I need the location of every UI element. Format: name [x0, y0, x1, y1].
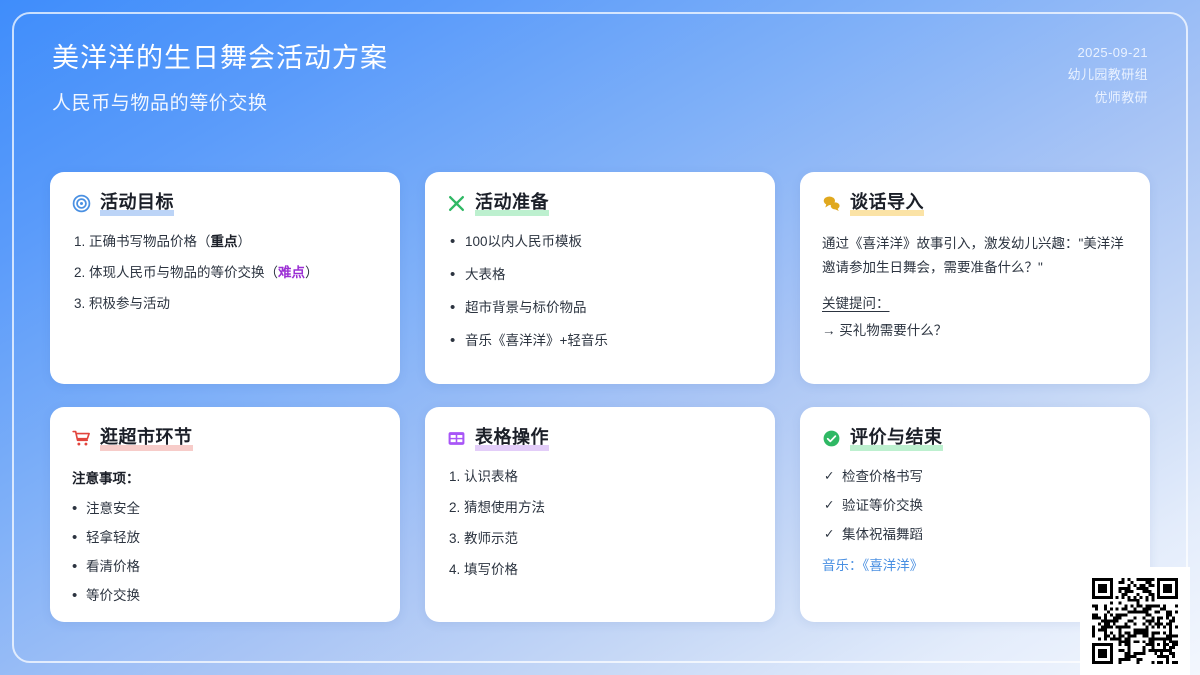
list-item: 超市背景与标价物品 [447, 298, 753, 318]
list-index: 3. [449, 531, 460, 546]
card-table-operation[interactable]: 表格操作 1. 认识表格 2. 猜想使用方法 3. 教师示范 4. 填写价格 [425, 407, 775, 622]
list-index: 3. [74, 296, 85, 311]
card-grid: 活动目标 1. 正确书写物品价格（重点） 2. 体现人民币与物品的等价交换（难点… [50, 172, 1150, 622]
list-item: 1. 认识表格 [447, 467, 753, 487]
list-item: 3. 积极参与活动 [72, 294, 378, 314]
list-item: 等价交换 [72, 586, 378, 606]
card-title: 活动准备 [475, 192, 549, 216]
card-header: 谈话导入 [822, 192, 1128, 216]
list-text: 积极参与活动 [89, 296, 170, 311]
qr-code-image [1092, 578, 1178, 664]
qr-code[interactable] [1080, 567, 1190, 675]
list-item: 注意安全 [72, 499, 378, 519]
list-item: 2. 猜想使用方法 [447, 498, 753, 518]
list-item: 2. 体现人民币与物品的等价交换（难点） [72, 263, 378, 283]
table-steps-list: 1. 认识表格 2. 猜想使用方法 3. 教师示范 4. 填写价格 [447, 467, 753, 581]
introduction-paragraph: 通过《喜洋洋》故事引入，激发幼儿兴趣："美洋洋邀请参加生日舞会，需要准备什么？" [822, 232, 1128, 280]
card-title: 表格操作 [475, 427, 549, 451]
list-item: 3. 教师示范 [447, 529, 753, 549]
evaluation-list: 检查价格书写 验证等价交换 集体祝福舞蹈 [822, 467, 1128, 546]
card-header: 逛超市环节 [72, 427, 378, 451]
list-text: 认识表格 [464, 469, 518, 484]
card-header: 表格操作 [447, 427, 753, 451]
objectives-list: 1. 正确书写物品价格（重点） 2. 体现人民币与物品的等价交换（难点） 3. … [72, 232, 378, 315]
list-index: 1. [449, 469, 460, 484]
list-text: 教师示范 [464, 531, 518, 546]
list-item: 验证等价交换 [822, 496, 1128, 516]
list-item: 音乐《喜洋洋》+轻音乐 [447, 331, 753, 351]
list-item: 看清价格 [72, 557, 378, 577]
shopping-cart-icon [72, 429, 91, 448]
notice-label: 注意事项： [72, 467, 378, 487]
page-subtitle: 人民币与物品的等价交换 [52, 88, 388, 115]
card-introduction[interactable]: 谈话导入 通过《喜洋洋》故事引入，激发幼儿兴趣："美洋洋邀请参加生日舞会，需要准… [800, 172, 1150, 384]
target-icon [72, 194, 91, 213]
list-item: 集体祝福舞蹈 [822, 525, 1128, 545]
card-title: 评价与结束 [850, 427, 943, 451]
card-title: 谈话导入 [850, 192, 924, 216]
key-question-label: 关键提问： [822, 292, 1128, 312]
list-index: 2. [449, 500, 460, 515]
header-date: 2025-09-21 [1068, 42, 1148, 64]
key-question-text: → 买礼物需要什么？ [822, 321, 1128, 341]
list-item: 4. 填写价格 [447, 560, 753, 580]
title-block: 美洋洋的生日舞会活动方案 人民币与物品的等价交换 [52, 38, 388, 115]
card-header: 活动目标 [72, 192, 378, 216]
difficulty-mark: 难点 [278, 265, 305, 280]
supermarket-list: 注意安全 轻拿轻放 看清价格 等价交换 [72, 499, 378, 607]
card-header: 活动准备 [447, 192, 753, 216]
emphasis-mark: 重点 [211, 234, 238, 249]
list-text: 正确书写物品价格（ [89, 234, 211, 249]
list-item: 轻拿轻放 [72, 528, 378, 548]
preparation-list: 100以内人民币模板 大表格 超市背景与标价物品 音乐《喜洋洋》+轻音乐 [447, 232, 753, 352]
card-objectives[interactable]: 活动目标 1. 正确书写物品价格（重点） 2. 体现人民币与物品的等价交换（难点… [50, 172, 400, 384]
list-item: 100以内人民币模板 [447, 232, 753, 252]
list-index: 2. [74, 265, 85, 280]
list-tail: ） [305, 265, 319, 280]
card-title: 逛超市环节 [100, 427, 193, 451]
table-grid-icon [447, 429, 466, 448]
card-header: 评价与结束 [822, 427, 1128, 451]
card-title: 活动目标 [100, 192, 174, 216]
check-circle-icon [822, 429, 841, 448]
header-meta: 2025-09-21 幼儿园教研组 优师教研 [1068, 38, 1148, 109]
list-tail: ） [238, 234, 252, 249]
tools-icon [447, 194, 466, 213]
list-text: 猜想使用方法 [464, 500, 545, 515]
list-index: 4. [449, 562, 460, 577]
list-item: 大表格 [447, 265, 753, 285]
list-text: 填写价格 [464, 562, 518, 577]
page-title: 美洋洋的生日舞会活动方案 [52, 42, 388, 76]
header-org: 幼儿园教研组 [1068, 64, 1148, 86]
header-brand: 优师教研 [1068, 87, 1148, 109]
list-item: 1. 正确书写物品价格（重点） [72, 232, 378, 252]
list-text: 体现人民币与物品的等价交换（ [89, 265, 278, 280]
list-index: 1. [74, 234, 85, 249]
speech-bubbles-icon [822, 194, 841, 213]
card-supermarket[interactable]: 逛超市环节 注意事项： 注意安全 轻拿轻放 看清价格 等价交换 [50, 407, 400, 622]
card-preparation[interactable]: 活动准备 100以内人民币模板 大表格 超市背景与标价物品 音乐《喜洋洋》+轻音… [425, 172, 775, 384]
list-item: 检查价格书写 [822, 467, 1128, 487]
slide-header: 美洋洋的生日舞会活动方案 人民币与物品的等价交换 2025-09-21 幼儿园教… [52, 38, 1148, 115]
